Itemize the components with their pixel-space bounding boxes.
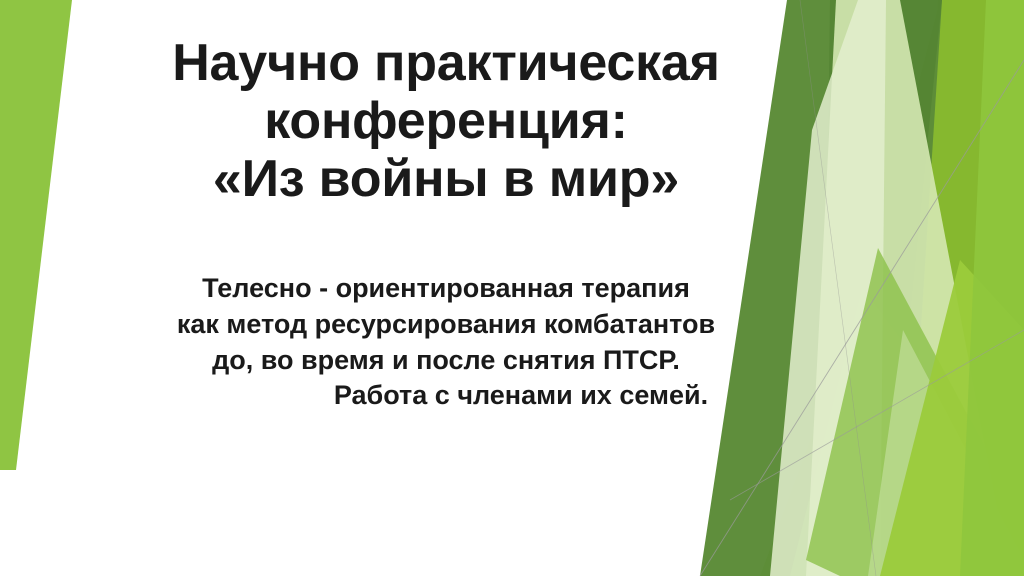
hairline-diagonal-upper: [800, 0, 876, 576]
soft-green-diagonal: [806, 248, 1024, 576]
title-line-1: Научно практическая: [96, 34, 796, 92]
pale-green-shard: [806, 0, 1010, 576]
right-bright-green-band: [905, 0, 1024, 576]
presentation-slide: Научно практическая конференция: «Из вой…: [0, 0, 1024, 576]
slide-text-area: Научно практическая конференция: «Из вой…: [96, 34, 796, 504]
mid-green-lower-diagonal: [790, 288, 1024, 576]
light-green-bottom-shard: [868, 330, 1024, 576]
title-line-3: «Из войны в мир»: [96, 150, 796, 208]
bright-green-bottom-wedge: [880, 260, 1024, 576]
subtitle-line-2: как метод ресурсирования комбатантов: [96, 307, 796, 343]
title-line-2: конференция:: [96, 92, 796, 150]
right-lime-field: [760, 0, 1024, 576]
slide-subtitle: Телесно - ориентированная терапия как ме…: [96, 271, 796, 415]
lime-accent-column: [960, 0, 1024, 576]
subtitle-line-4: Работа с членами их семей.: [96, 378, 796, 414]
left-green-wedge: [0, 0, 72, 470]
page-title: Научно практическая конференция: «Из вой…: [96, 34, 796, 209]
subtitle-line-1: Телесно - ориентированная терапия: [96, 271, 796, 307]
subtitle-line-3: до, во время и после снятия ПТСР.: [96, 343, 796, 379]
dark-green-sliver: [826, 0, 942, 430]
